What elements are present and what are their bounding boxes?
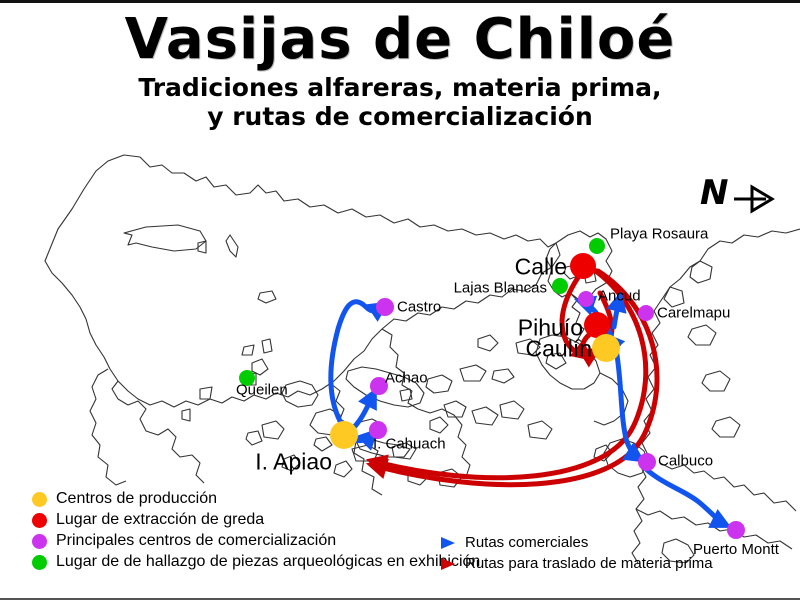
mainland-inlet-3: [688, 325, 716, 345]
legend-label: Rutas comerciales: [465, 535, 588, 551]
red-dot-icon: [32, 513, 47, 528]
map-label-i-apiao: I. Apiao: [255, 451, 332, 474]
isla-small-18: [478, 335, 498, 351]
inlet-sliver-1: [226, 235, 238, 257]
map-marker-playa-rosaura[interactable]: [589, 238, 605, 254]
map-label-carelmapu: Carelmapu: [657, 306, 730, 321]
yellow-dot-icon: [32, 492, 47, 507]
green-dot-icon: [32, 555, 47, 570]
legend-markers: Centros de producciónLugar de extracción…: [32, 489, 480, 573]
isla-small-11: [246, 431, 262, 445]
isla-small-6: [430, 417, 448, 433]
map-label-i-cahuach: I. Cahuach: [373, 437, 446, 452]
inlet-sliver-8: [200, 387, 212, 399]
mainland-inlet-1: [690, 261, 712, 283]
legend-label: Lugar de de hallazgo de piezas arqueológ…: [56, 554, 480, 570]
map-label-calle: Calle: [515, 256, 567, 279]
map-marker-i-apiao[interactable]: [330, 421, 358, 449]
blue-arrow-icon: [440, 536, 456, 550]
inlet-north-west: [124, 225, 206, 251]
legend-label: Centros de producción: [56, 491, 217, 507]
legend-label: Lugar de extracción de greda: [56, 512, 264, 528]
legend-row-commercialization: Principales centros de comercialización: [32, 531, 480, 551]
legend-row-commercial_route: Rutas comerciales: [440, 533, 713, 553]
isla-small-3: [492, 369, 514, 383]
map-marker-castro[interactable]: [376, 298, 394, 316]
isla-small-16: [500, 401, 524, 419]
map-label-calbuco: Calbuco: [658, 454, 713, 469]
map-marker-lajas-blancas[interactable]: [552, 278, 568, 294]
legend: Centros de producciónLugar de extracción…: [0, 489, 800, 569]
isla-small-10: [262, 421, 284, 439]
map-marker-calle[interactable]: [570, 253, 596, 279]
inlet-sliver-6: [252, 359, 268, 375]
legend-row-raw_material_route: Rutas para traslado de materia prima: [440, 554, 713, 574]
isla-small-5: [472, 407, 498, 425]
map-label-ancud: Ancud: [598, 289, 641, 304]
isla-small-17: [528, 421, 552, 439]
title-block: Vasijas de Chiloé Tradiciones alfareras,…: [0, 9, 800, 131]
map-marker-calbuco[interactable]: [638, 453, 656, 471]
page-title: Vasijas de Chiloé: [0, 9, 800, 71]
inlet-sliver-9: [182, 409, 190, 421]
inlet-sliver-5: [242, 345, 254, 355]
map-marker-caul-n[interactable]: [592, 334, 620, 362]
red-arrow-icon: [440, 557, 456, 571]
map-label-queilen: Queilen: [236, 383, 288, 398]
mainland-inlet-5: [712, 417, 740, 437]
legend-routes: Rutas comercialesRutas para traslado de …: [440, 533, 713, 575]
map-marker-carelmapu[interactable]: [638, 305, 654, 321]
isla-small-2: [460, 365, 486, 381]
map-marker-ancud[interactable]: [578, 291, 594, 307]
subtitle-line-2: y rutas de comercialización: [0, 102, 800, 131]
legend-label: Principales centros de comercialización: [56, 533, 336, 549]
inlet-sliver-3: [258, 291, 276, 303]
north-letter: N: [700, 173, 728, 213]
map-page: Vasijas de Chiloé Tradiciones alfareras,…: [0, 0, 800, 600]
isla-small-4: [444, 401, 466, 417]
magenta-dot-icon: [32, 534, 47, 549]
isla-small-14: [334, 461, 352, 477]
legend-row-clay_extraction: Lugar de extracción de greda: [32, 510, 480, 530]
north-arrow-icon: N: [700, 175, 780, 221]
subtitle-line-1: Tradiciones alfareras, materia prima,: [138, 73, 661, 102]
isla-small-1: [426, 375, 452, 393]
inlet-sliver-4: [262, 339, 272, 353]
legend-row-archaeological: Lugar de de hallazgo de piezas arqueológ…: [32, 552, 480, 572]
map-label-castro: Castro: [397, 300, 441, 315]
map-label-playa-rosaura: Playa Rosaura: [610, 227, 708, 242]
coast-detail-west-2: [90, 369, 126, 485]
coast-detail-west-1: [112, 381, 204, 483]
map-label-achao: Achao: [385, 371, 428, 386]
legend-row-production: Centros de producción: [32, 489, 480, 509]
map-label-caul-n: Caulín: [526, 338, 592, 361]
map-label-lajas-blancas: Lajas Blancas: [454, 281, 547, 296]
mainland-inlet-4: [702, 371, 730, 391]
page-subtitle: Tradiciones alfareras, materia prima, y …: [0, 73, 800, 131]
legend-label: Rutas para traslado de materia prima: [465, 556, 713, 572]
